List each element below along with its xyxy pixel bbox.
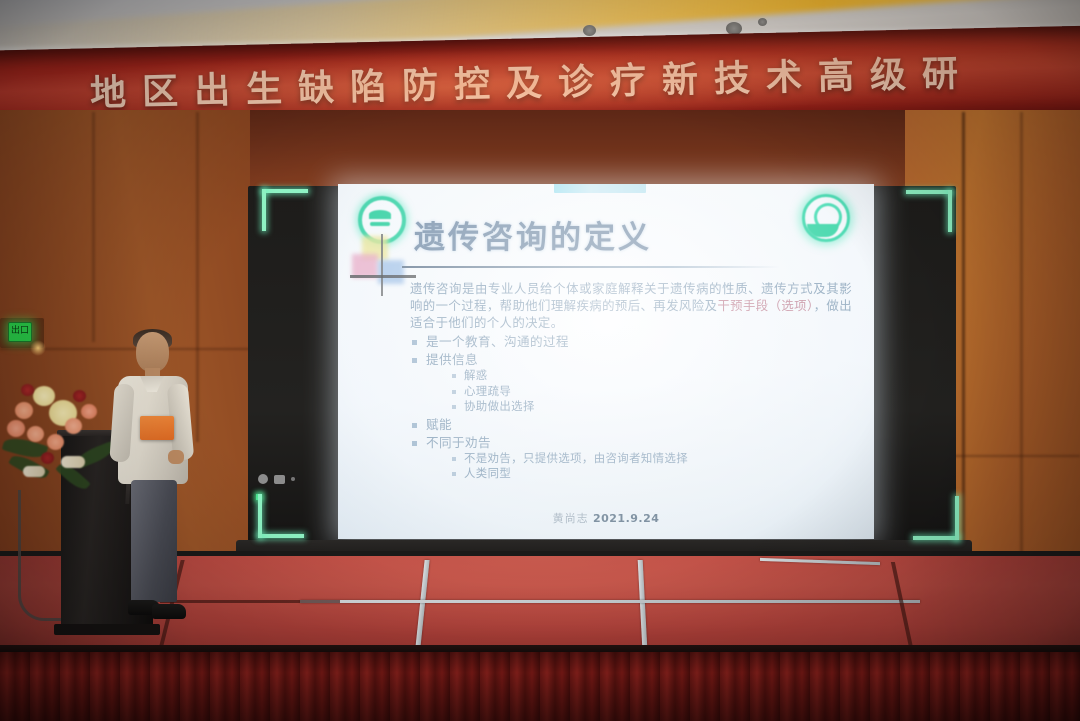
organization-emblem-right-icon [802,194,850,242]
slide-footer: 黄尚志 2021.9.24 [338,510,874,526]
slide-bullet-list: 是一个教育、沟通的过程 提供信息 解惑 心理疏导 协助做出选择 赋能 不同于劝告… [410,333,852,482]
sub-bullet-text: 解惑 [464,368,488,382]
speaker-hand [168,450,184,464]
bullet-text: 赋能 [426,417,452,432]
wall-seam [196,112,199,442]
clock-icon[interactable] [258,474,268,484]
list-item: 协助做出选择 [450,399,852,415]
speaker-shoe [152,604,186,619]
sub-bullet-text: 人类同型 [464,466,511,480]
list-item: 心理疏导 [450,384,852,400]
sub-bullet-text: 心理疏导 [464,384,511,398]
paragraph-highlight: 干预手段（选项） [717,298,813,313]
sub-bullet-text: 协助做出选择 [464,399,535,413]
podium-side-rail [18,490,61,621]
conference-photo-scene: 地区出生缺陷防控及诊疗新技术高级研 出口 遗传咨询的定义 遗传咨询是由专业人员给… [0,0,1080,721]
presenter-control-icons[interactable] [258,474,295,484]
list-item: 解惑 [450,368,852,384]
presentation-toolbar-watermark [554,184,646,193]
corner-bracket-bottom-left [258,494,304,538]
wall-seam [962,112,965,562]
slide-sub-bullet-list: 解惑 心理疏导 协助做出选择 [450,368,852,415]
decorative-cross-motif [350,234,416,296]
exit-sign: 出口 [8,322,32,342]
footer-author: 黄尚志 [553,512,589,525]
footer-date: 2021.9.24 [593,512,659,525]
speaker-name-badge [140,416,174,440]
wall-seam [1020,112,1023,562]
speaker-head [136,332,169,372]
wall-seam [92,112,95,342]
corner-bracket-top-right [906,190,952,232]
list-item: 不同于劝告 不是劝告，只提供选项，由咨询者知情选择 人类同型 [410,434,852,482]
ceiling-spotlight [758,18,767,26]
ceiling-spotlight [583,25,596,36]
corner-bracket-bottom-right [913,496,959,540]
list-item: 是一个教育、沟通的过程 [410,333,852,350]
title-underline [402,266,780,268]
corner-bracket-top-left [262,189,308,231]
venue-banner-text: 地区出生缺陷防控及诊疗新技术高级研 [0,41,1080,119]
list-item: 不是劝告，只提供选项，由咨询者知情选择 [450,451,852,467]
exit-sign-label: 出口 [9,323,31,340]
list-item: 提供信息 解惑 心理疏导 协助做出选择 [410,351,852,415]
bullet-text: 提供信息 [426,352,478,367]
slide-paragraph: 遗传咨询是由专业人员给个体或家庭解释关于遗传病的性质、遗传方式及其影响的一个过程… [410,280,852,331]
slide-sub-bullet-list: 不是劝告，只提供选项，由咨询者知情选择 人类同型 [450,451,852,482]
presentation-slide: 遗传咨询的定义 遗传咨询是由专业人员给个体或家庭解释关于遗传病的性质、遗传方式及… [338,184,874,539]
bullet-text: 不同于劝告 [426,435,491,450]
list-item: 赋能 [410,416,852,433]
slide-view-icon[interactable] [274,475,285,484]
stage-skirt [0,652,1080,721]
sub-bullet-text: 不是劝告，只提供选项，由咨询者知情选择 [464,451,688,465]
slide-title: 遗传咨询的定义 [414,212,652,257]
list-item: 人类同型 [450,466,852,482]
wall-lamp-glow [30,340,46,356]
stage-floor-seam [300,600,920,603]
speaker [112,332,194,624]
podium-base [54,624,160,635]
more-options-icon[interactable] [291,477,295,481]
bullet-text: 是一个教育、沟通的过程 [426,334,569,349]
slide-body: 遗传咨询是由专业人员给个体或家庭解释关于遗传病的性质、遗传方式及其影响的一个过程… [410,280,852,482]
speaker-trousers [131,480,177,602]
